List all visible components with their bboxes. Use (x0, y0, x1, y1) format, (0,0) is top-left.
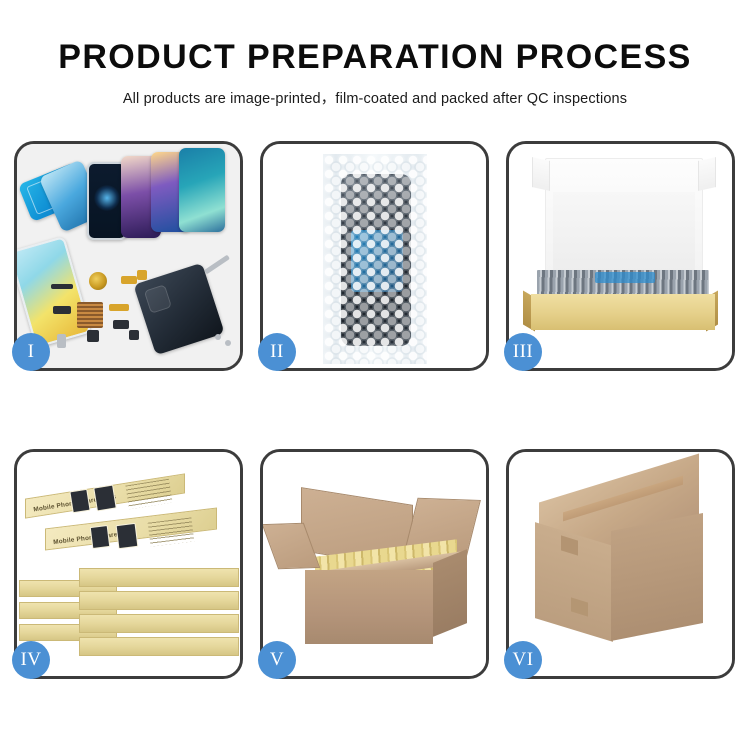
header: PRODUCT PREPARATION PROCESS All products… (0, 0, 750, 108)
part-coil-icon (89, 272, 107, 290)
box-thumbnail (90, 525, 111, 549)
carton-side-panel (433, 549, 467, 637)
product-preparation-page: PRODUCT PREPARATION PROCESS All products… (0, 0, 750, 750)
process-step-panel-4[interactable]: Mobile Phone Spare Parts Mobile Phone Sp… (14, 449, 243, 679)
carton-filling-illustration (263, 452, 486, 676)
step-badge-4: IV (12, 641, 50, 679)
stacked-box (79, 591, 239, 610)
part-camera-icon (113, 320, 129, 329)
bubble-texture-overlay-icon (330, 161, 427, 364)
process-step-panel-3[interactable]: III (506, 141, 735, 371)
mailer-box-interior (553, 192, 695, 272)
carton-right-panel (611, 513, 703, 641)
part-screw-icon (215, 334, 221, 340)
step-image-2 (263, 144, 486, 368)
phone-back-housing-icon (133, 263, 224, 356)
box-spec-lines (148, 517, 195, 546)
part-ribbon-icon (109, 304, 129, 311)
step-badge-3: III (504, 333, 542, 371)
phone-parts-illustration (17, 144, 240, 368)
process-step-panel-6[interactable]: VI (506, 449, 735, 679)
box-thumbnail (93, 485, 117, 512)
step-image-3 (509, 144, 732, 368)
part-flex-cable-icon (121, 276, 137, 284)
part-speaker-icon (51, 284, 73, 289)
process-step-grid: I II (14, 141, 736, 679)
page-title: PRODUCT PREPARATION PROCESS (0, 36, 750, 78)
step-badge-1: I (12, 333, 50, 371)
mailer-box-front-panel (531, 294, 715, 330)
process-step-panel-2[interactable]: II (260, 141, 489, 371)
part-button-icon (87, 330, 99, 342)
stacked-box (79, 614, 239, 633)
phone-teal-icon (179, 148, 225, 232)
retail-box-stack-illustration: Mobile Phone Spare Parts Mobile Phone Sp… (17, 452, 240, 676)
page-subtitle: All products are image-printed，film-coat… (0, 87, 750, 108)
step-image-1 (17, 144, 240, 368)
step-image-6 (509, 452, 732, 676)
bubble-wrap-illustration (263, 144, 486, 368)
bubble-wrap-sheet (323, 154, 427, 364)
box-thumbnail (69, 489, 90, 514)
step-badge-2: II (258, 333, 296, 371)
part-sim-tray-icon (57, 334, 66, 348)
part-tweezers-icon (204, 255, 230, 275)
sealed-carton-illustration (509, 452, 732, 676)
process-step-panel-5[interactable]: V (260, 449, 489, 679)
carton-front-panel (305, 570, 433, 644)
mailer-box-illustration (509, 144, 732, 368)
part-bracket-icon (53, 306, 71, 314)
box-thumbnail (116, 523, 139, 549)
part-shield-grid-icon (77, 302, 103, 328)
part-connector-icon (137, 270, 147, 280)
part-screw-2-icon (225, 340, 231, 346)
step-image-4: Mobile Phone Spare Parts Mobile Phone Sp… (17, 452, 240, 676)
step-image-5 (263, 452, 486, 676)
step-badge-5: V (258, 641, 296, 679)
process-step-panel-1[interactable]: I (14, 141, 243, 371)
phone-large-icon (17, 236, 92, 348)
step-badge-6: VI (504, 641, 542, 679)
stacked-box (79, 568, 239, 587)
part-sensor-icon (129, 330, 139, 340)
stacked-box (79, 637, 239, 656)
